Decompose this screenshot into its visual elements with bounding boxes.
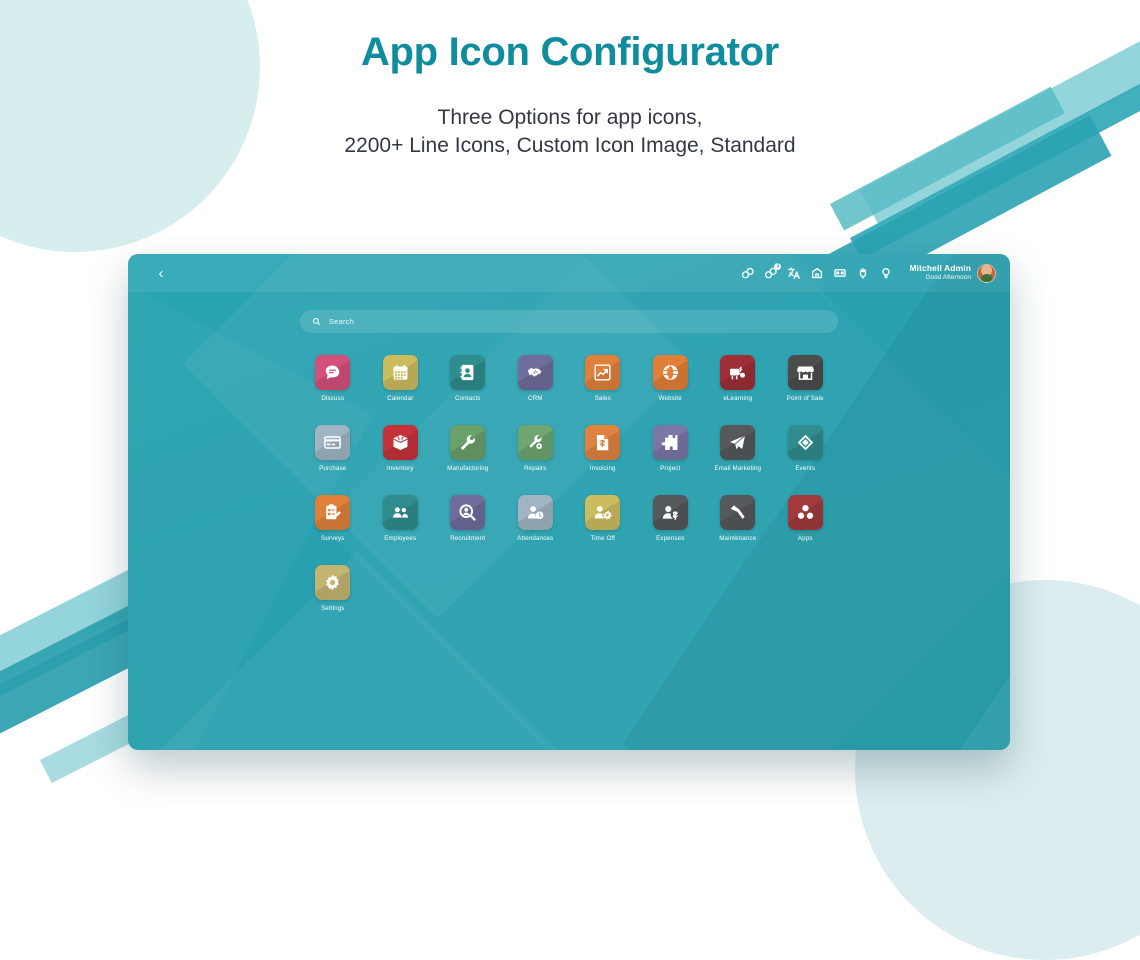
user-name: Mitchell Admin [909, 264, 971, 274]
projector-icon [728, 363, 747, 382]
systray: 1 Mitchell Admin Good Afternoon [741, 264, 996, 283]
app-label: Inventory [387, 465, 414, 472]
person-gear-icon [593, 503, 612, 522]
app-tile[interactable] [450, 495, 485, 530]
app-tile[interactable] [383, 355, 418, 390]
app-item-elearning[interactable]: eLearning [704, 355, 772, 402]
globe-icon [661, 363, 680, 382]
app-item-sales[interactable]: Sales [569, 355, 637, 402]
paper-plane-icon [728, 433, 747, 452]
apps-grid-icon[interactable] [833, 266, 847, 280]
search-icon [312, 317, 321, 326]
app-label: Point of Sale [787, 395, 824, 402]
page-title: App Icon Configurator [0, 30, 1140, 75]
app-label: Time Off [590, 535, 615, 542]
app-label: Calendar [387, 395, 413, 402]
user-greeting: Good Afternoon [909, 274, 971, 281]
app-item-maintenance[interactable]: Maintenance [704, 495, 772, 542]
back-button[interactable]: ‹ [152, 264, 170, 282]
chart-up-icon [593, 363, 612, 382]
box-open-icon [391, 433, 410, 452]
credit-card-icon [323, 433, 342, 452]
app-label: eLearning [723, 395, 752, 402]
debug-bug-icon[interactable] [856, 266, 870, 280]
app-tile[interactable] [518, 495, 553, 530]
app-item-inventory[interactable]: Inventory [367, 425, 435, 472]
calendar-icon [391, 363, 410, 382]
app-item-apps[interactable]: Apps [772, 495, 840, 542]
activities-icon[interactable] [741, 266, 755, 280]
app-tile[interactable] [720, 355, 755, 390]
messages-icon[interactable]: 1 [764, 266, 778, 280]
app-item-invoicing[interactable]: Invoicing [569, 425, 637, 472]
app-item-recruitment[interactable]: Recruitment [434, 495, 502, 542]
app-tile[interactable] [518, 425, 553, 460]
app-label: Invoicing [590, 465, 616, 472]
app-label: Email Marketing [714, 465, 761, 472]
app-item-purchase[interactable]: Purchase [299, 425, 367, 472]
app-tile[interactable] [720, 495, 755, 530]
app-item-time-off[interactable]: Time Off [569, 495, 637, 542]
app-item-attendances[interactable]: Attendances [502, 495, 570, 542]
search-area: Search [128, 292, 1010, 333]
app-item-manufacturing[interactable]: Manufacturing [434, 425, 502, 472]
page-subtitle: Three Options for app icons, 2200+ Line … [0, 104, 1140, 160]
app-tile[interactable] [788, 495, 823, 530]
app-item-repairs[interactable]: Repairs [502, 425, 570, 472]
app-tile[interactable] [383, 425, 418, 460]
app-label: Recruitment [450, 535, 485, 542]
app-label: Contacts [455, 395, 481, 402]
app-label: Expenses [656, 535, 684, 542]
blocks-icon [796, 503, 815, 522]
search-placeholder: Search [329, 317, 354, 326]
app-tile[interactable] [653, 425, 688, 460]
app-item-website[interactable]: Website [637, 355, 705, 402]
app-tile[interactable] [653, 495, 688, 530]
app-tile[interactable] [653, 355, 688, 390]
app-item-email-marketing[interactable]: Email Marketing [704, 425, 772, 472]
help-tip-icon[interactable] [879, 266, 893, 280]
app-label: Sales [595, 395, 611, 402]
app-tile[interactable] [720, 425, 755, 460]
people-icon [391, 503, 410, 522]
app-label: Surveys [321, 535, 344, 542]
person-clock-icon [526, 503, 545, 522]
clipboard-pen-icon [323, 503, 342, 522]
app-tile[interactable] [383, 495, 418, 530]
translate-icon[interactable] [787, 266, 801, 280]
user-text: Mitchell Admin Good Afternoon [909, 264, 971, 281]
app-tile[interactable] [450, 425, 485, 460]
app-tile[interactable] [450, 355, 485, 390]
app-item-employees[interactable]: Employees [367, 495, 435, 542]
app-label: Settings [321, 605, 345, 612]
app-tile[interactable] [518, 355, 553, 390]
storefront-icon [796, 363, 815, 382]
hammer-icon [728, 503, 747, 522]
app-item-calendar[interactable]: Calendar [367, 355, 435, 402]
app-tile[interactable] [585, 425, 620, 460]
contact-card-icon [458, 363, 477, 382]
app-tile[interactable] [585, 495, 620, 530]
app-tile[interactable] [315, 565, 350, 600]
app-item-expenses[interactable]: Expenses [637, 495, 705, 542]
avatar[interactable] [977, 264, 996, 283]
chat-bubble-icon [323, 363, 342, 382]
app-tile[interactable] [788, 425, 823, 460]
app-label: Discuss [321, 395, 344, 402]
app-grid: DiscussCalendarContactsCRMSalesWebsiteeL… [299, 355, 839, 612]
app-label: Maintenance [719, 535, 756, 542]
app-tile[interactable] [315, 425, 350, 460]
app-label: Repairs [524, 465, 546, 472]
handshake-icon [526, 363, 545, 382]
app-window: ‹ 1 [128, 254, 1010, 750]
app-label: Website [659, 395, 682, 402]
page-subtitle-line2: 2200+ Line Icons, Custom Icon Image, Sta… [0, 132, 1140, 160]
window-header: ‹ 1 [128, 254, 1010, 292]
enterprise-icon[interactable] [810, 266, 824, 280]
app-item-crm[interactable]: CRM [502, 355, 570, 402]
app-label: Manufacturing [447, 465, 488, 472]
app-item-contacts[interactable]: Contacts [434, 355, 502, 402]
wrench-gear-icon [526, 433, 545, 452]
search-input[interactable]: Search [300, 310, 838, 333]
gear-icon [323, 573, 342, 592]
app-label: Events [795, 465, 815, 472]
magnifier-person-icon [458, 503, 477, 522]
app-tile[interactable] [315, 355, 350, 390]
puzzle-icon [661, 433, 680, 452]
app-item-surveys[interactable]: Surveys [299, 495, 367, 542]
invoice-dollar-icon [593, 433, 612, 452]
app-item-settings[interactable]: Settings [299, 565, 367, 612]
person-dollar-icon [661, 503, 680, 522]
app-item-point-of-sale[interactable]: Point of Sale [772, 355, 840, 402]
app-label: CRM [528, 395, 543, 402]
app-tile[interactable] [315, 495, 350, 530]
messages-badge: 1 [774, 263, 781, 270]
ticket-icon [796, 433, 815, 452]
app-label: Apps [798, 535, 813, 542]
app-item-project[interactable]: Project [637, 425, 705, 472]
app-label: Purchase [319, 465, 346, 472]
user-menu[interactable]: Mitchell Admin Good Afternoon [909, 264, 996, 283]
app-tile[interactable] [788, 355, 823, 390]
app-label: Employees [384, 535, 416, 542]
app-item-discuss[interactable]: Discuss [299, 355, 367, 402]
app-label: Attendances [517, 535, 553, 542]
app-item-events[interactable]: Events [772, 425, 840, 472]
app-tile[interactable] [585, 355, 620, 390]
page-subtitle-line1: Three Options for app icons, [438, 106, 703, 129]
wrench-icon [458, 433, 477, 452]
app-label: Project [660, 465, 680, 472]
